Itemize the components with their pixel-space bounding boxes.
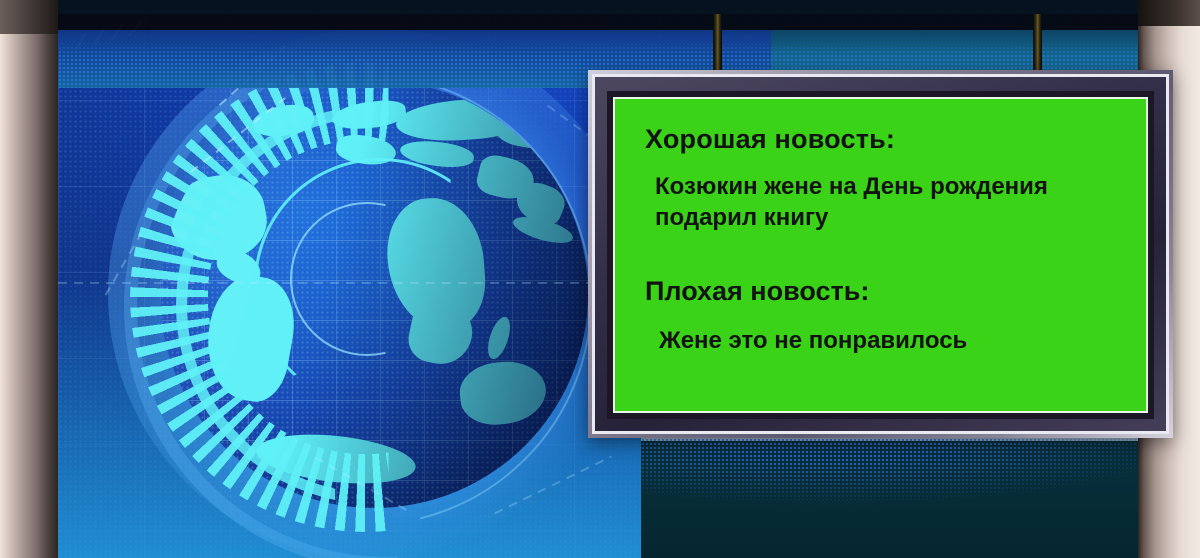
good-news-body: Козюкин жене на День рождения подарил кн… (655, 171, 1120, 233)
studio-screenshot: Хорошая новость: Козюкин жене на День ро… (0, 0, 1200, 558)
studio-wall-left (0, 0, 58, 558)
good-news-heading: Хорошая новость: (645, 125, 1120, 155)
bad-news-body: Жене это не понравилось (659, 325, 1120, 356)
green-screen-slide-panel: Хорошая новость: Козюкин жене на День ро… (588, 70, 1173, 438)
hud-horizon-line (58, 282, 618, 284)
studio-wall-left-shadow (0, 0, 58, 34)
studio-wall-right-shadow (1138, 0, 1200, 26)
panel-bevel: Хорошая новость: Козюкин жене на День ро… (607, 91, 1154, 419)
dotted-world-map (641, 438, 1138, 558)
panel-inner-frame: Хорошая новость: Козюкин жене на День ро… (592, 74, 1169, 434)
ceiling-shadow (58, 14, 1138, 30)
text-spacer (645, 233, 1120, 277)
chroma-key-green-area: Хорошая новость: Козюкин жене на День ро… (613, 97, 1148, 413)
bad-news-heading: Плохая новость: (645, 277, 1120, 307)
secondary-map-panel (641, 438, 1138, 558)
